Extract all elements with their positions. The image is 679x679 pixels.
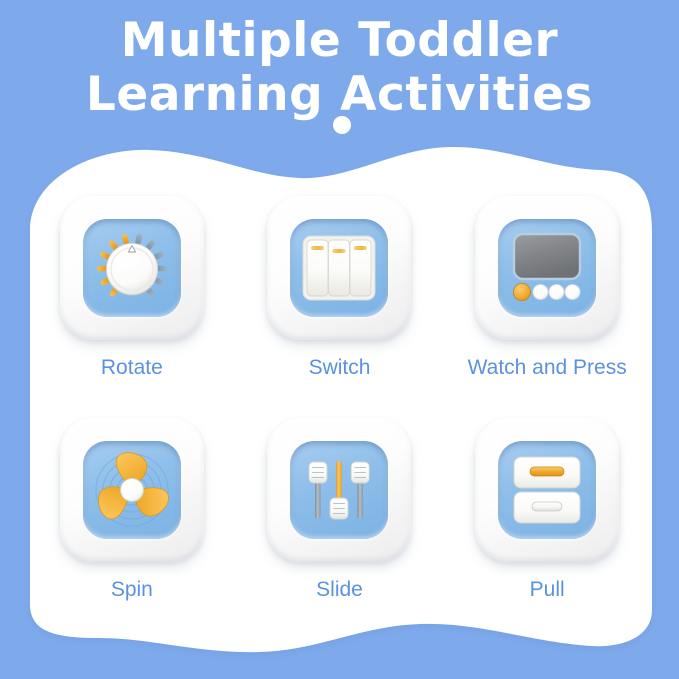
spin-inner-panel — [83, 441, 181, 539]
screen-buttons-icon — [498, 219, 596, 317]
activity-label-watch-and-press: Watch and Press — [468, 356, 627, 380]
activity-cell-spin[interactable]: Spin — [28, 418, 236, 640]
slide-inner-panel — [290, 441, 388, 539]
page-header: Multiple Toddler Learning Activities — [0, 0, 679, 136]
activity-tile-switch[interactable] — [267, 196, 411, 340]
activities-grid: Rotate — [0, 196, 679, 640]
slider-handle-left — [309, 462, 327, 483]
slider-handle-middle — [330, 498, 348, 519]
page-title-line-1: Multiple Toddler — [121, 14, 558, 68]
activity-label-pull: Pull — [530, 578, 565, 602]
rocker-switch-icon — [290, 219, 388, 317]
switch-inner-panel — [290, 219, 388, 317]
rotary-knob-icon — [83, 219, 181, 317]
activity-cell-watch-and-press[interactable]: Watch and Press — [443, 196, 651, 418]
activity-cell-slide[interactable]: Slide — [236, 418, 444, 640]
sliders-icon — [290, 441, 388, 539]
activity-tile-spin[interactable] — [60, 418, 204, 562]
activity-label-rotate: Rotate — [101, 356, 163, 380]
activity-tile-rotate[interactable] — [60, 196, 204, 340]
activity-cell-pull[interactable]: Pull — [443, 418, 651, 640]
activity-label-switch: Switch — [309, 356, 371, 380]
activity-cell-switch[interactable]: Switch — [236, 196, 444, 418]
drawer-handle-bottom — [532, 502, 562, 511]
fan-blades-icon — [83, 441, 181, 539]
watch-and-press-inner-panel — [498, 219, 596, 317]
screen-display — [514, 234, 580, 279]
activity-cell-rotate[interactable]: Rotate — [28, 196, 236, 418]
slider-handle-right — [352, 462, 370, 483]
activity-label-spin: Spin — [111, 578, 153, 602]
activity-tile-slide[interactable] — [267, 418, 411, 562]
page-title-line-2: Learning Activities — [86, 68, 593, 122]
activity-label-slide: Slide — [316, 578, 363, 602]
drawers-icon — [498, 441, 596, 539]
drawer-handle-top — [530, 467, 564, 476]
pull-inner-panel — [498, 441, 596, 539]
rotate-inner-panel — [83, 219, 181, 317]
activity-tile-watch-and-press[interactable] — [475, 196, 619, 340]
activity-tile-pull[interactable] — [475, 418, 619, 562]
